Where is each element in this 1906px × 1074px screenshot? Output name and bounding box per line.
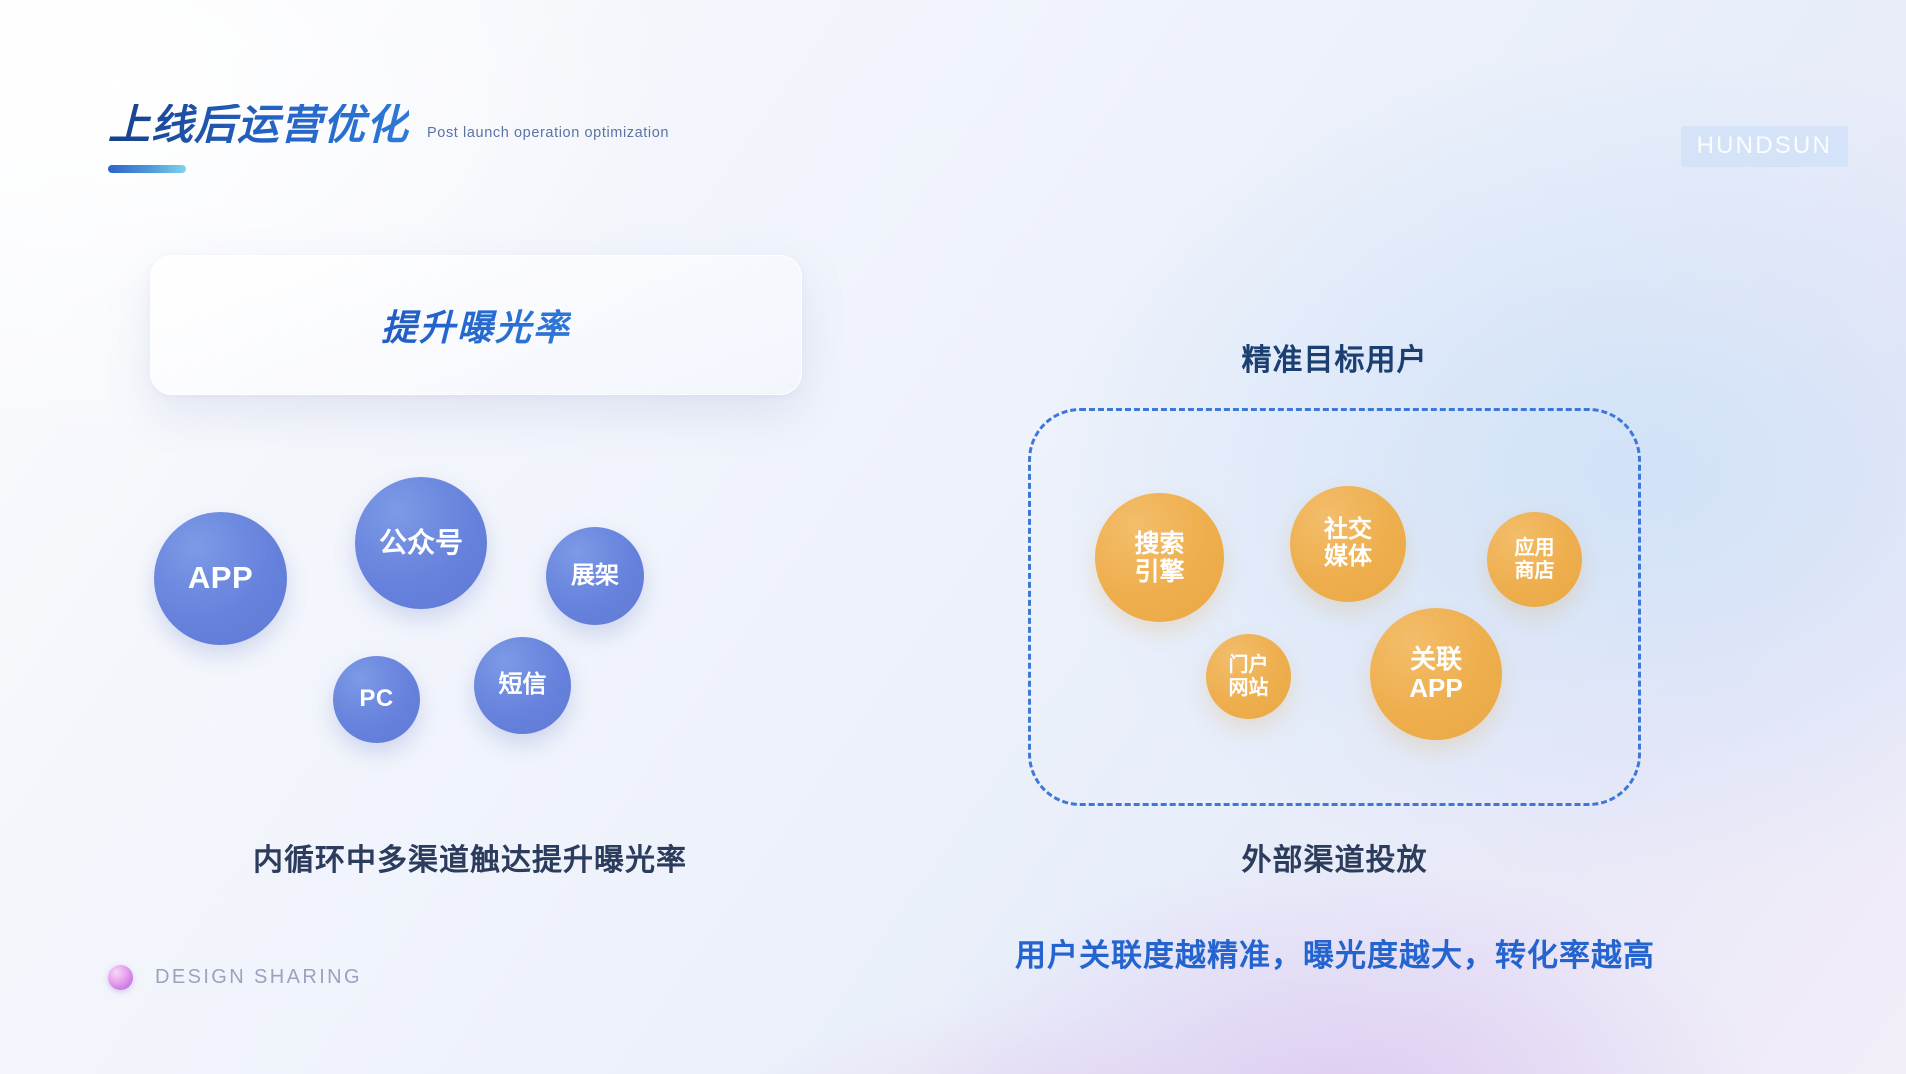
bubble-display-rack: 展架: [546, 527, 644, 625]
bubble-pc: PC: [333, 656, 420, 743]
exposure-card: 提升曝光率: [150, 255, 802, 395]
bubble-app: APP: [154, 512, 287, 645]
tagline-text: 用户关联度越精准，曝光度越大，转化率越高: [940, 930, 1730, 975]
brand-logo-text: HUNDSUN: [1697, 134, 1832, 158]
exposure-card-title: 提升曝光率: [381, 299, 571, 351]
page-title: 上线后运营优化: [108, 104, 409, 146]
sphere-icon: [108, 965, 133, 990]
slide-header: 上线后运营优化 Post launch operation optimizati…: [108, 104, 669, 146]
bubble-linked-app: 关联APP: [1370, 608, 1502, 740]
right-panel-caption: 外部渠道投放: [1028, 835, 1641, 879]
bubble-search-engine: 搜索引擎: [1095, 493, 1224, 622]
target-group-label: 精准目标用户: [1028, 335, 1641, 379]
bubble-portal-site: 门户网站: [1206, 634, 1291, 719]
slide-canvas: 上线后运营优化 Post launch operation optimizati…: [0, 0, 1906, 1074]
footer-label: DESIGN SHARING: [155, 966, 362, 989]
bubble-app-store: 应用商店: [1487, 512, 1582, 607]
slide-footer: DESIGN SHARING: [108, 965, 362, 990]
bubble-sms: 短信: [474, 637, 571, 734]
bubble-social-media: 社交媒体: [1290, 486, 1406, 602]
left-panel-caption: 内循环中多渠道触达提升曝光率: [110, 835, 830, 879]
page-subtitle: Post launch operation optimization: [427, 125, 669, 141]
brand-logo: HUNDSUN: [1681, 126, 1848, 167]
bubble-official-account: 公众号: [355, 477, 487, 609]
title-underline-bar: [108, 165, 186, 173]
